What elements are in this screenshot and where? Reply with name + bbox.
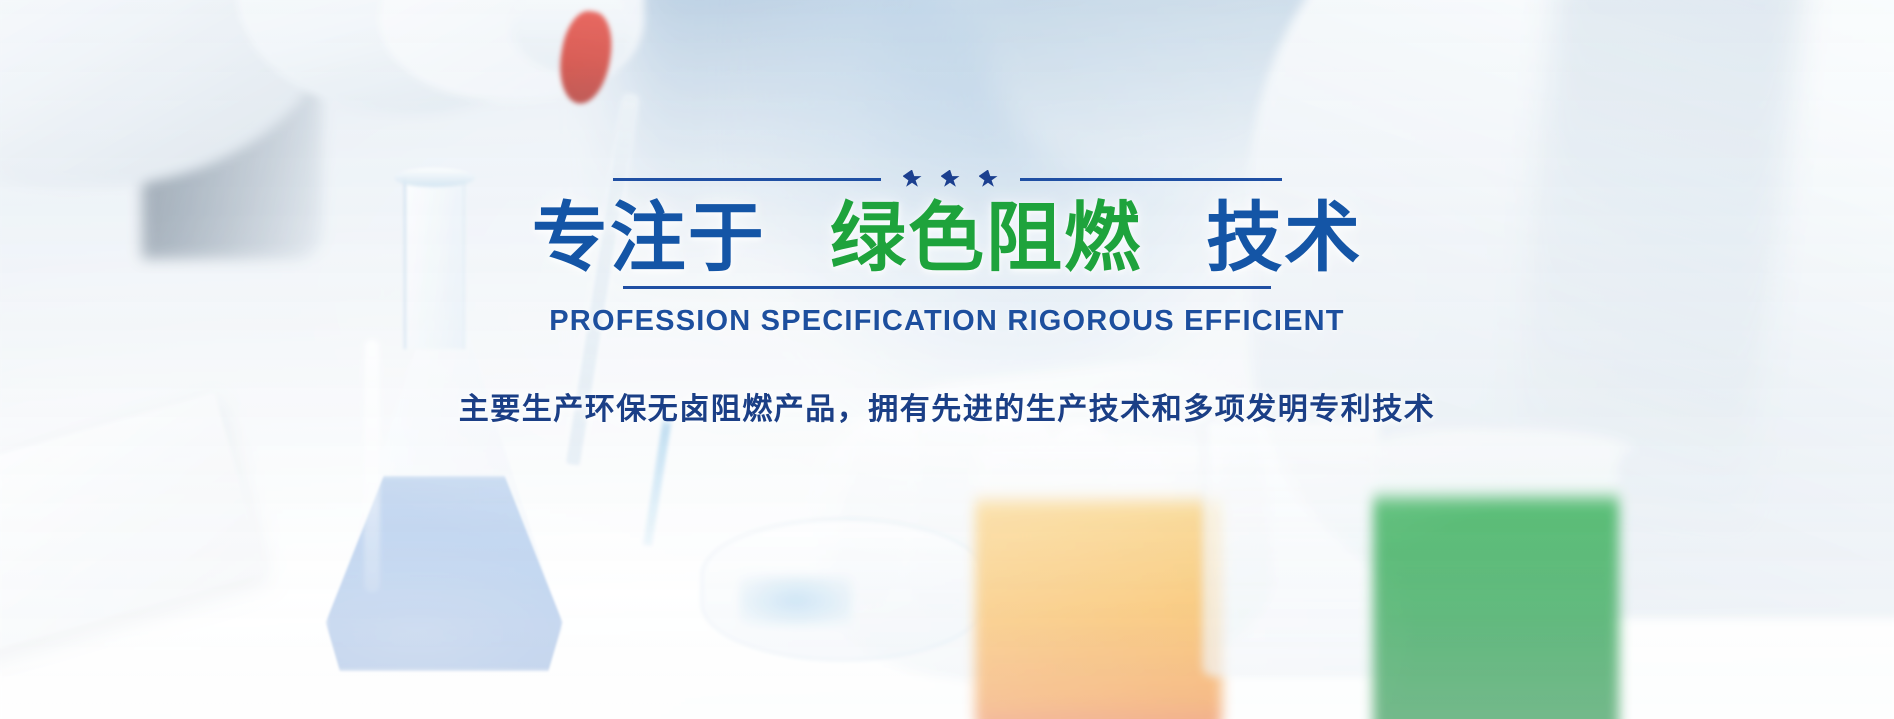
star-icon xyxy=(979,170,998,189)
headline-part-1: 专注于 xyxy=(532,196,766,281)
headline-part-2: 绿色阻燃 xyxy=(830,196,1142,281)
divider-rule-left xyxy=(613,178,881,181)
star-group xyxy=(881,170,1020,189)
divider-rule-right xyxy=(1020,178,1282,181)
star-icon xyxy=(903,170,922,189)
page-title: 专注于 绿色阻燃 技术 xyxy=(532,198,1363,280)
banner-content: 专注于 绿色阻燃 技术 PROFESSION SPECIFICATION RIG… xyxy=(0,168,1894,428)
english-subtitle: PROFESSION SPECIFICATION RIGOROUS EFFICI… xyxy=(549,305,1344,338)
divider-with-stars xyxy=(623,168,1271,190)
headline-part-3: 技术 xyxy=(1206,196,1362,281)
star-icon xyxy=(941,170,960,189)
divider-rule-bottom xyxy=(623,286,1271,289)
hero-banner: 专注于 绿色阻燃 技术 PROFESSION SPECIFICATION RIG… xyxy=(0,0,1894,719)
chinese-tagline: 主要生产环保无卤阻燃产品，拥有先进的生产技术和多项发明专利技术 xyxy=(459,384,1436,428)
